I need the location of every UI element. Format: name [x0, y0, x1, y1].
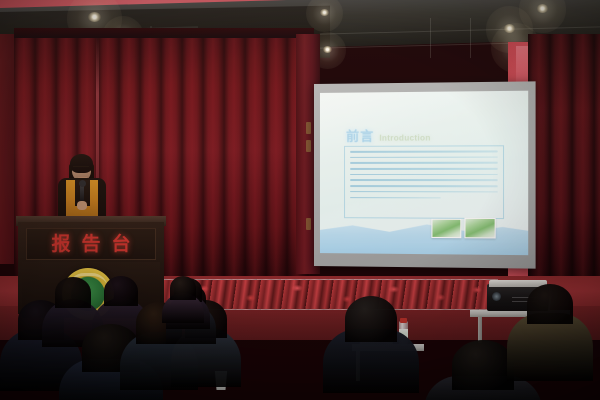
projection-screen[interactable]: 前言 Introduction	[314, 81, 536, 268]
spotlight-5	[323, 46, 332, 53]
slide-wave-graphic	[320, 219, 528, 255]
slide-body-line	[350, 150, 498, 152]
slide-body-line	[350, 162, 498, 164]
slide-body-line	[350, 191, 498, 193]
slide-body-line	[350, 174, 498, 176]
slide-title: 前言 Introduction	[346, 125, 431, 145]
ceiling-seam	[470, 18, 471, 58]
microphone-head	[79, 180, 86, 187]
slide-photo-1	[431, 219, 461, 239]
slide-body-line	[350, 156, 498, 158]
audience-person-12-head	[170, 276, 196, 300]
projector-lens	[492, 292, 501, 301]
ceiling-seam	[430, 18, 431, 58]
audience-person-11-head	[527, 284, 573, 324]
slide-body-text	[344, 145, 504, 219]
audience-person-2-head	[55, 277, 91, 308]
slide-body-line	[350, 197, 441, 199]
presentation-slide: 前言 Introduction	[320, 91, 528, 255]
audience-person-9-head	[345, 296, 397, 342]
slide-photo-1-image	[432, 220, 460, 237]
pillar-accent	[306, 140, 311, 152]
speaker-glasses	[73, 166, 89, 171]
pillar-accent	[306, 218, 311, 230]
podium-char-1: 报	[51, 235, 70, 254]
podium-sign: 报 告 台	[26, 228, 156, 260]
audience-person-10-head	[452, 340, 514, 390]
slide-photo-2-image	[465, 219, 494, 238]
speaker-hand	[77, 201, 87, 210]
slide-title-en: Introduction	[379, 133, 430, 142]
stage-curtain-right	[528, 34, 600, 284]
pillar-accent	[306, 122, 311, 134]
curtain-rail	[14, 28, 314, 38]
screen-surface: 前言 Introduction	[320, 91, 528, 255]
spotlight-4	[320, 9, 329, 16]
slide-photo-2	[464, 218, 495, 239]
slide-body-line	[350, 168, 498, 170]
conference-hall-photo: 前言 Introduction	[0, 0, 600, 400]
slide-body-line	[350, 179, 498, 181]
slide-body-line	[350, 185, 498, 187]
audience-person-3-head	[104, 276, 138, 306]
podium-char-3: 台	[112, 235, 131, 254]
spotlight-8	[537, 4, 548, 13]
water-bottle-cap	[400, 318, 407, 323]
podium-char-2: 告	[81, 235, 100, 254]
slide-title-cn: 前言	[346, 126, 374, 145]
